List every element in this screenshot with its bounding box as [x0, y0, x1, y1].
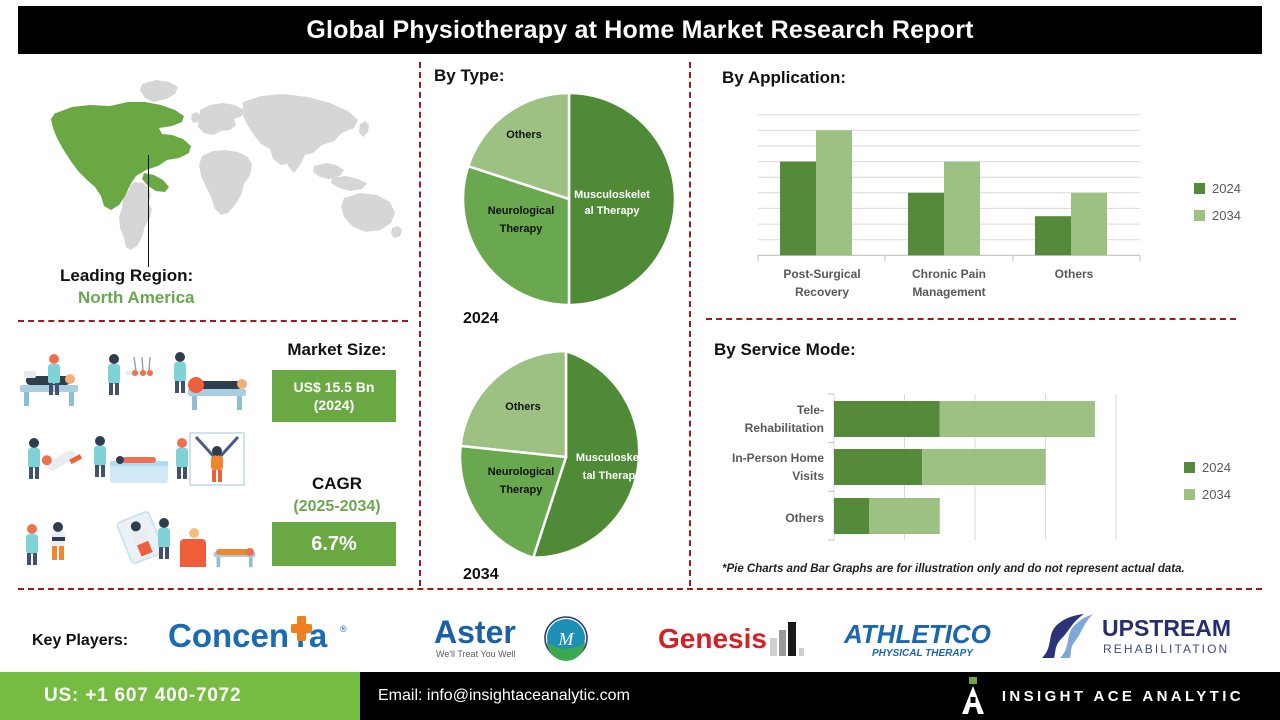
leading-region-label: Leading Region: — [40, 266, 370, 286]
bar-service-others-2034 — [869, 498, 940, 534]
app-cat-2-line1: Chronic Pain — [912, 267, 986, 281]
logo-aster-text: Aster — [434, 614, 516, 650]
logo-aster-tagline: We'll Treat You Well — [436, 649, 515, 659]
upstream-wave-icon — [1036, 614, 1094, 658]
legend-swatch-2034 — [1194, 210, 1205, 221]
illus-cell-1 — [20, 354, 78, 406]
footer-email: Email: info@insightaceanalytic.com — [378, 672, 630, 720]
illus-cell-8 — [116, 511, 170, 565]
service-cat-2-line1: In-Person Home — [732, 451, 824, 465]
legend-item-service-2024: 2024 — [1184, 460, 1231, 475]
cagr-value-box: 6.7% — [272, 522, 396, 566]
legend-label-2024: 2024 — [1212, 181, 1241, 196]
divider-vertical-right — [689, 62, 691, 586]
bar-others-2024 — [1035, 216, 1071, 255]
pie-2024-label-others: Others — [506, 129, 541, 141]
y-axis-ticks — [828, 394, 834, 540]
pie-2034-label-others: Others — [505, 401, 540, 413]
illus-cell-6 — [176, 433, 244, 485]
pie-2034-label-msk-line2: tal Therapy — [583, 470, 643, 482]
pie-2024-label-neuro-line1: Neurological — [488, 205, 555, 217]
logo-upstream: UPSTREAM REHABILITATION — [1036, 612, 1248, 662]
illus-cell-4 — [28, 438, 82, 479]
footer-brand-block: INSIGHT ACE ANALYTIC — [958, 672, 1244, 720]
world-map — [14, 70, 414, 265]
x-axis-ticks — [758, 255, 1140, 261]
footer-phone-block: US: +1 607 400-7072 — [0, 672, 360, 720]
logo-concentra-text: Concen — [168, 617, 289, 654]
logo-athletico-tagline: PHYSICAL THERAPY — [872, 648, 974, 659]
legend-label-service-2034: 2034 — [1202, 487, 1231, 502]
legend-swatch-service-2034 — [1184, 489, 1195, 500]
legend-item-2024: 2024 — [1194, 181, 1241, 196]
footer-phone: US: +1 607 400-7072 — [44, 685, 241, 707]
logo-concentra: Concen ra ® — [168, 614, 368, 660]
aster-seal-icon: M — [545, 617, 587, 661]
divider-horizontal-left — [18, 320, 408, 322]
legend-item-2034: 2034 — [1194, 208, 1241, 223]
logo-athletico: ATHLETICO PHYSICAL THERAPY — [842, 618, 1022, 660]
cagr-value: 6.7% — [311, 533, 357, 556]
market-size-value: US$ 15.5 Bn — [294, 378, 375, 396]
bar-chart-by-service-mode: Tele- Rehabilitation In-Person Home Visi… — [712, 392, 1132, 562]
legend-by-application: 2024 2034 — [1194, 181, 1241, 235]
app-cat-3: Others — [1055, 267, 1094, 281]
pie-2024-label-msk-line1: Musculoskelet — [574, 189, 650, 201]
pie-2024-label-neuro-line2: Therapy — [500, 223, 544, 235]
legend-label-service-2024: 2024 — [1202, 460, 1231, 475]
app-cat-2-line2: Management — [912, 285, 985, 299]
illus-cell-3 — [174, 352, 247, 410]
physiotherapy-illustration-grid — [12, 345, 264, 587]
logo-upstream-text: UPSTREAM — [1102, 615, 1231, 641]
logo-concentra-registered: ® — [340, 624, 347, 634]
service-cat-2-line2: Visits — [792, 469, 824, 483]
section-title-by-service-mode: By Service Mode: — [714, 340, 856, 360]
service-cat-1-line2: Rehabilitation — [745, 421, 824, 435]
bar-tele-rehab-2034 — [940, 401, 1095, 437]
app-cat-1-line1: Post-Surgical — [783, 267, 860, 281]
leading-region-block: Leading Region: North America — [40, 266, 370, 308]
illus-cell-9 — [180, 528, 255, 567]
legend-label-2034: 2034 — [1212, 208, 1241, 223]
map-leader-line — [148, 155, 149, 267]
pie-chart-2034: Musculoskele tal Therapy Neurological Th… — [452, 348, 680, 566]
bar-in-person-2034 — [922, 449, 1045, 485]
illus-cell-7 — [26, 522, 65, 565]
chart-disclaimer-note: *Pie Charts and Bar Graphs are for illus… — [722, 563, 1242, 575]
legend-by-service-mode: 2024 2034 — [1184, 460, 1231, 514]
pie-2034-label-msk-line1: Musculoskele — [576, 452, 648, 464]
logo-athletico-text: ATHLETICO — [843, 619, 991, 649]
service-cat-3: Others — [785, 511, 824, 525]
market-size-year: (2024) — [314, 396, 354, 414]
illus-cell-5 — [94, 436, 168, 483]
service-cat-1-line1: Tele- — [797, 403, 824, 417]
cagr-years: (2025-2034) — [262, 498, 412, 516]
divider-horizontal-right — [706, 318, 1236, 320]
leading-region-value: North America — [40, 288, 370, 308]
market-size-title: Market Size: — [262, 340, 412, 360]
svg-text:M: M — [558, 629, 575, 649]
pie-2024-year: 2024 — [463, 310, 499, 328]
header-bar: Global Physiotherapy at Home Market Rese… — [18, 6, 1262, 54]
pie-2024-label-msk-line2: al Therapy — [584, 205, 640, 217]
divider-horizontal-bottom — [18, 588, 1262, 590]
bar-tele-rehab-2024 — [834, 401, 940, 437]
bar-chronic-pain-2034 — [944, 162, 980, 256]
bar-chart-by-application: Post-Surgical Recovery Chronic Pain Mana… — [740, 100, 1160, 300]
pie-chart-2024: Musculoskelet al Therapy Neurological Th… — [460, 90, 678, 308]
illus-cell-2 — [108, 354, 153, 395]
bar-post-surgical-2024 — [780, 162, 816, 256]
section-title-by-application: By Application: — [722, 68, 846, 88]
logo-genesis-text: Genesis — [658, 623, 767, 654]
genesis-bars-icon — [770, 622, 804, 656]
legend-item-service-2034: 2034 — [1184, 487, 1231, 502]
bar-post-surgical-2034 — [816, 130, 852, 255]
logo-aster: Aster We'll Treat You Well M — [434, 612, 602, 664]
logo-upstream-tagline: REHABILITATION — [1103, 642, 1229, 656]
key-players-label: Key Players: — [32, 632, 128, 650]
divider-vertical-left — [419, 62, 421, 586]
world-map-north-america-highlight — [51, 102, 191, 210]
app-cat-1-line2: Recovery — [795, 285, 849, 299]
footer-bar: US: +1 607 400-7072 Email: info@insighta… — [0, 672, 1280, 720]
legend-swatch-2024 — [1194, 183, 1205, 194]
logo-genesis: Genesis — [658, 618, 818, 660]
insight-ace-a-icon — [958, 677, 988, 715]
footer-brand-name: INSIGHT ACE ANALYTIC — [1002, 688, 1244, 705]
bar-chronic-pain-2024 — [908, 193, 944, 256]
bar-service-others-2024 — [834, 498, 869, 534]
market-size-value-box: US$ 15.5 Bn (2024) — [272, 370, 396, 422]
infographic-page: Global Physiotherapy at Home Market Rese… — [0, 0, 1280, 720]
pie-2034-label-neuro-line2: Therapy — [500, 484, 544, 496]
bar-in-person-2024 — [834, 449, 922, 485]
cagr-title: CAGR — [262, 474, 412, 494]
section-title-by-type: By Type: — [434, 66, 505, 86]
legend-swatch-service-2024 — [1184, 462, 1195, 473]
bar-others-2034 — [1071, 193, 1107, 256]
page-title: Global Physiotherapy at Home Market Rese… — [306, 16, 973, 45]
pie-2034-label-neuro-line1: Neurological — [488, 466, 555, 478]
pie-2034-year: 2034 — [463, 566, 499, 584]
